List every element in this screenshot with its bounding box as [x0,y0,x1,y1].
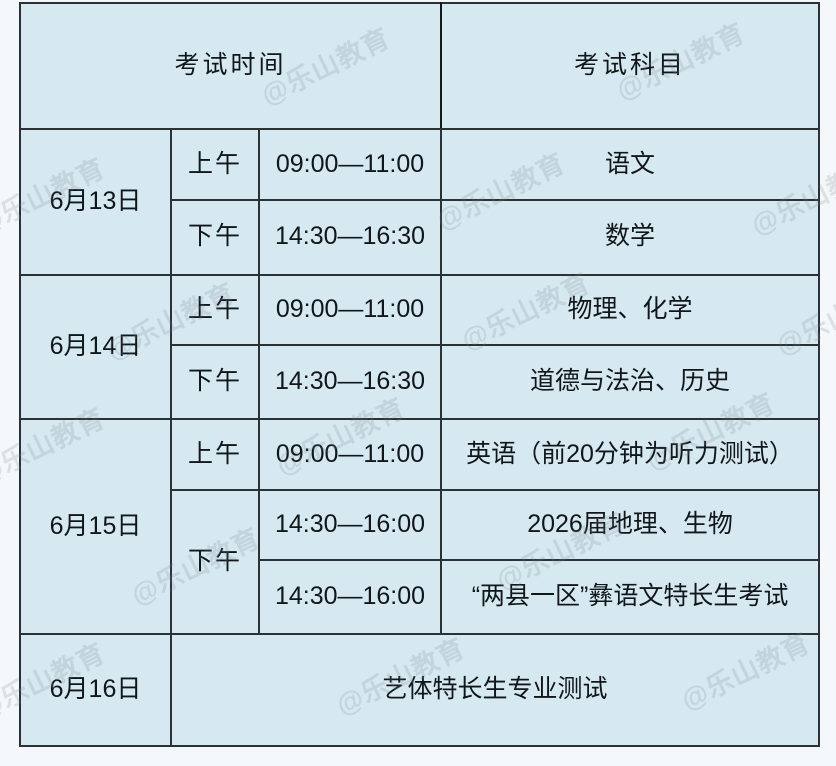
date-cell: 6月16日 [20,634,171,746]
session-cell: 上午 [171,275,259,346]
exam-schedule-table: 考试时间 考试科目 6月13日 上午 09:00—11:00 语文 下午 14:… [19,2,820,747]
subject-cell: 艺体特长生专业测试 [171,634,819,746]
table-row: 6月14日 上午 09:00—11:00 物理、化学 [20,275,819,346]
subject-cell: 数学 [441,200,819,275]
subject-cell: “两县一区”彝语文特长生考试 [441,560,819,634]
time-cell: 09:00—11:00 [259,129,441,200]
header-exam-time: 考试时间 [20,3,441,129]
session-cell: 上午 [171,419,259,490]
subject-cell: 英语（前20分钟为听力测试） [441,419,819,490]
header-exam-subject: 考试科目 [441,3,819,129]
table-row: 6月16日 艺体特长生专业测试 [20,634,819,746]
time-cell: 14:30—16:00 [259,560,441,634]
exam-schedule-container: 考试时间 考试科目 6月13日 上午 09:00—11:00 语文 下午 14:… [19,2,818,747]
time-cell: 09:00—11:00 [259,275,441,346]
time-cell: 09:00—11:00 [259,419,441,490]
session-cell: 下午 [171,345,259,419]
date-cell: 6月14日 [20,275,171,420]
subject-cell: 语文 [441,129,819,200]
subject-cell: 物理、化学 [441,275,819,346]
session-cell: 下午 [171,490,259,635]
session-cell: 下午 [171,200,259,275]
subject-cell: 道德与法治、历史 [441,345,819,419]
table-row: 6月13日 上午 09:00—11:00 语文 [20,129,819,200]
session-cell: 上午 [171,129,259,200]
date-cell: 6月13日 [20,129,171,275]
time-cell: 14:30—16:00 [259,490,441,561]
table-header-row: 考试时间 考试科目 [20,3,819,129]
time-cell: 14:30—16:30 [259,200,441,275]
time-cell: 14:30—16:30 [259,345,441,419]
table-row: 6月15日 上午 09:00—11:00 英语（前20分钟为听力测试） [20,419,819,490]
subject-cell: 2026届地理、生物 [441,490,819,561]
date-cell: 6月15日 [20,419,171,634]
